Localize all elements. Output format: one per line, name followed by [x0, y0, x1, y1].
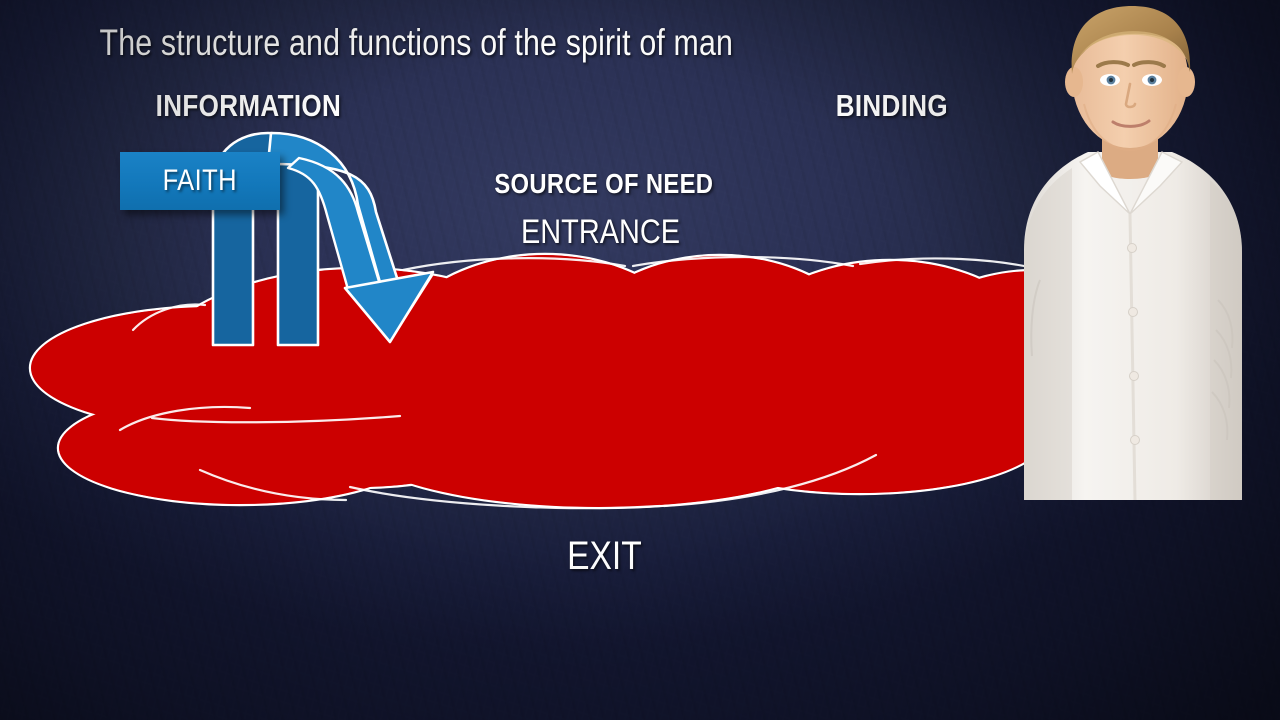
presenter-figure [980, 0, 1280, 500]
slide-canvas: FAITH [0, 0, 1280, 720]
faith-label: FAITH [163, 164, 237, 198]
faith-box[interactable]: FAITH [120, 152, 280, 210]
presenter-photo [980, 0, 1280, 500]
